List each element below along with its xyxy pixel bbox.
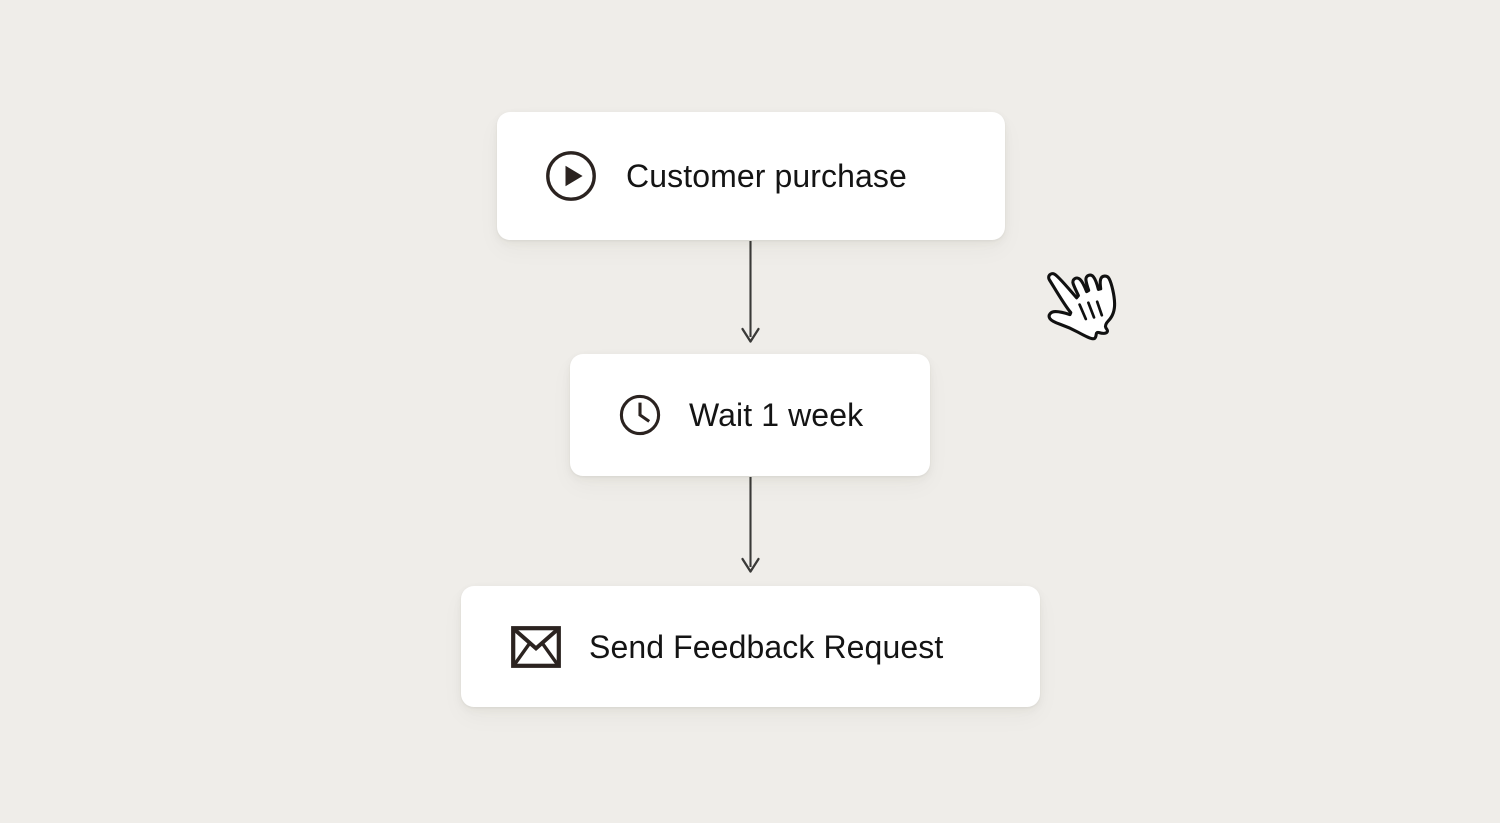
flow-node-label: Send Feedback Request (589, 631, 943, 663)
flow-node-customer-purchase[interactable]: Customer purchase (497, 112, 1005, 240)
flow-node-wait-1-week[interactable]: Wait 1 week (570, 354, 930, 476)
play-circle-icon (544, 149, 598, 203)
workflow-canvas[interactable]: Customer purchase Wait 1 week Send Feedb… (0, 0, 1500, 823)
flow-node-label: Customer purchase (626, 160, 907, 192)
flow-node-send-feedback-request[interactable]: Send Feedback Request (461, 586, 1040, 707)
envelope-icon (511, 626, 561, 668)
hand-pointer-cursor (1038, 262, 1124, 350)
clock-icon (618, 393, 662, 437)
flow-node-label: Wait 1 week (689, 399, 863, 431)
